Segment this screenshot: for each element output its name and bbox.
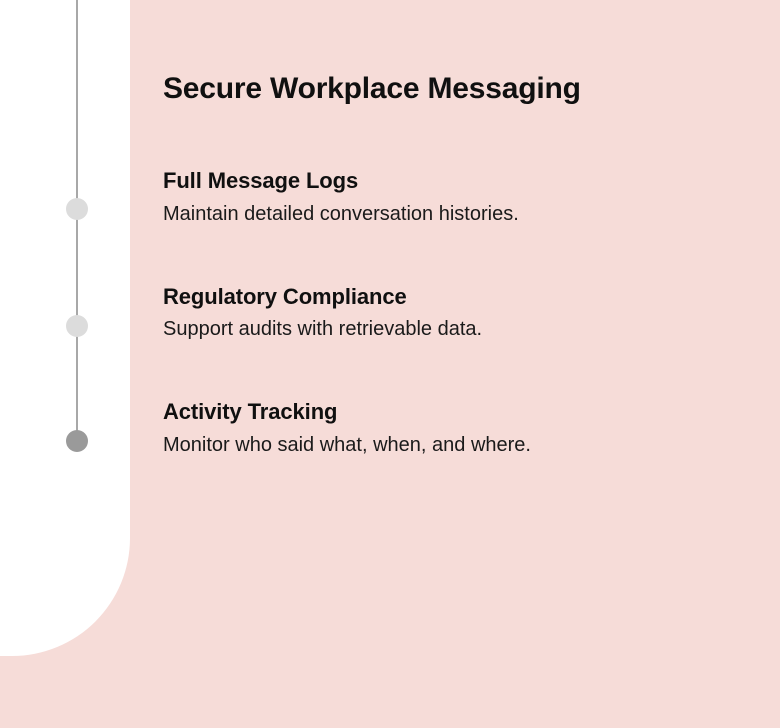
- timeline-dot-1[interactable]: [66, 198, 88, 220]
- feature-title: Activity Tracking: [163, 398, 723, 426]
- feature-title: Full Message Logs: [163, 167, 723, 195]
- feature-description: Monitor who said what, when, and where.: [163, 432, 723, 458]
- content-column: Secure Workplace Messaging Full Message …: [163, 0, 723, 458]
- timeline-dot-2[interactable]: [66, 315, 88, 337]
- feature-list: Full Message Logs Maintain detailed conv…: [163, 167, 723, 458]
- list-item: Activity Tracking Monitor who said what,…: [163, 398, 723, 458]
- feature-description: Support audits with retrievable data.: [163, 316, 723, 342]
- feature-title: Regulatory Compliance: [163, 283, 723, 311]
- list-item: Full Message Logs Maintain detailed conv…: [163, 167, 723, 227]
- list-item: Regulatory Compliance Support audits wit…: [163, 283, 723, 343]
- left-white-panel: [0, 0, 130, 656]
- slide-canvas: Secure Workplace Messaging Full Message …: [0, 0, 780, 728]
- timeline-dot-3[interactable]: [66, 430, 88, 452]
- timeline-rail: [76, 0, 78, 442]
- feature-description: Maintain detailed conversation histories…: [163, 201, 723, 227]
- page-title: Secure Workplace Messaging: [163, 0, 723, 107]
